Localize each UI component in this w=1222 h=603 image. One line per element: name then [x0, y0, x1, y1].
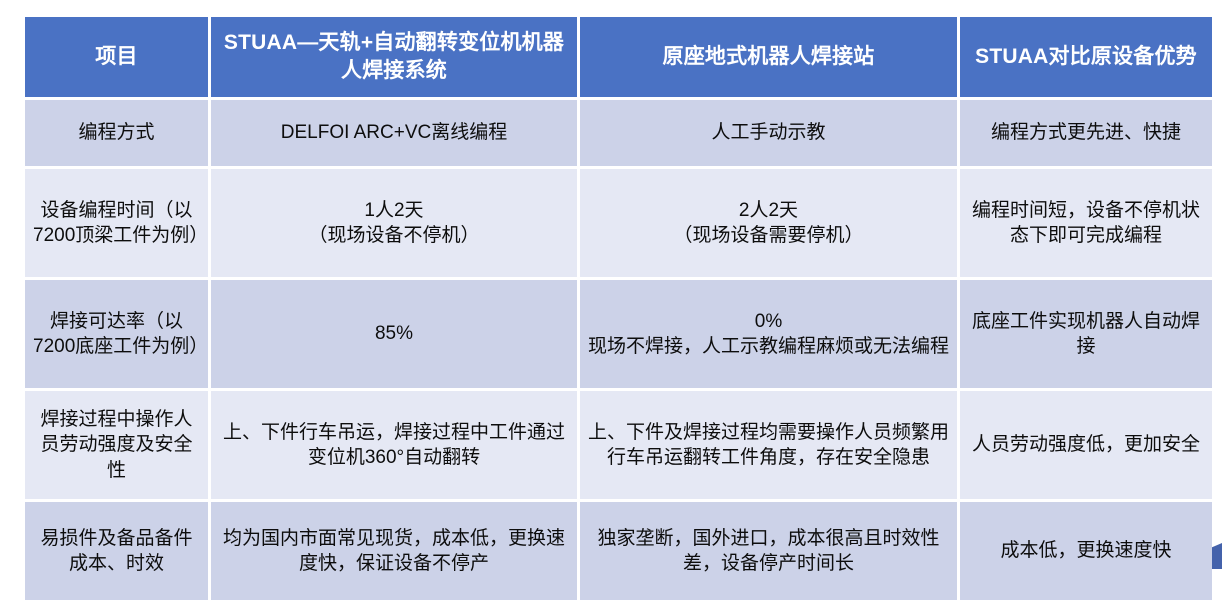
cell-advantage: 编程方式更先进、快捷: [960, 100, 1212, 166]
table-row: 设备编程时间（以7200顶梁工件为例） 1人2天 （现场设备不停机） 2人2天 …: [25, 169, 1212, 277]
cell-item: 焊接过程中操作人员劳动强度及安全性: [25, 391, 208, 499]
cell-original: 上、下件及焊接过程均需要操作人员频繁用行车吊运翻转工件角度，存在安全隐患: [580, 391, 957, 499]
column-header-stuaa: STUAA—天轨+自动翻转变位机机器人焊接系统: [211, 17, 577, 97]
cell-line: （现场设备不停机）: [219, 223, 569, 248]
cell-item: 设备编程时间（以7200顶梁工件为例）: [25, 169, 208, 277]
header-row: 项目 STUAA—天轨+自动翻转变位机机器人焊接系统 原座地式机器人焊接站 ST…: [25, 17, 1212, 97]
cell-original: 独家垄断，国外进口，成本很高且时效性差，设备停产时间长: [580, 502, 957, 600]
cell-item: 易损件及备品备件成本、时效: [25, 502, 208, 600]
comparison-table: 项目 STUAA—天轨+自动翻转变位机机器人焊接系统 原座地式机器人焊接站 ST…: [22, 14, 1215, 603]
cell-advantage: 成本低，更换速度快: [960, 502, 1212, 600]
cell-stuaa: DELFOI ARC+VC离线编程: [211, 100, 577, 166]
cell-line: 2人2天: [588, 198, 949, 223]
cell-advantage: 底座工件实现机器人自动焊接: [960, 280, 1212, 388]
table-row: 焊接可达率（以7200底座工件为例） 85% 0% 现场不焊接，人工示教编程麻烦…: [25, 280, 1212, 388]
table-row: 焊接过程中操作人员劳动强度及安全性 上、下件行车吊运，焊接过程中工件通过变位机3…: [25, 391, 1212, 499]
table-row: 编程方式 DELFOI ARC+VC离线编程 人工手动示教 编程方式更先进、快捷: [25, 100, 1212, 166]
cell-item: 编程方式: [25, 100, 208, 166]
cell-stuaa: 1人2天 （现场设备不停机）: [211, 169, 577, 277]
cell-line: 1人2天: [219, 198, 569, 223]
cell-line: 0%: [588, 309, 949, 334]
cell-advantage: 人员劳动强度低，更加安全: [960, 391, 1212, 499]
cell-item: 焊接可达率（以7200底座工件为例）: [25, 280, 208, 388]
cell-stuaa: 85%: [211, 280, 577, 388]
cell-line: （现场设备需要停机）: [588, 223, 949, 248]
cell-original: 0% 现场不焊接，人工示教编程麻烦或无法编程: [580, 280, 957, 388]
column-header-advantage: STUAA对比原设备优势: [960, 17, 1212, 97]
table-body: 编程方式 DELFOI ARC+VC离线编程 人工手动示教 编程方式更先进、快捷…: [25, 100, 1212, 600]
table-header: 项目 STUAA—天轨+自动翻转变位机机器人焊接系统 原座地式机器人焊接站 ST…: [25, 17, 1212, 97]
cell-original: 2人2天 （现场设备需要停机）: [580, 169, 957, 277]
cell-stuaa: 上、下件行车吊运，焊接过程中工件通过变位机360°自动翻转: [211, 391, 577, 499]
column-header-original: 原座地式机器人焊接站: [580, 17, 957, 97]
cell-advantage: 编程时间短，设备不停机状态下即可完成编程: [960, 169, 1212, 277]
cell-original: 人工手动示教: [580, 100, 957, 166]
slide-canvas: 项目 STUAA—天轨+自动翻转变位机机器人焊接系统 原座地式机器人焊接站 ST…: [0, 0, 1222, 569]
table-row: 易损件及备品备件成本、时效 均为国内市面常见现货，成本低，更换速度快，保证设备不…: [25, 502, 1212, 600]
cell-line: 现场不焊接，人工示教编程麻烦或无法编程: [588, 334, 949, 359]
column-header-item: 项目: [25, 17, 208, 97]
cell-stuaa: 均为国内市面常见现货，成本低，更换速度快，保证设备不停产: [211, 502, 577, 600]
